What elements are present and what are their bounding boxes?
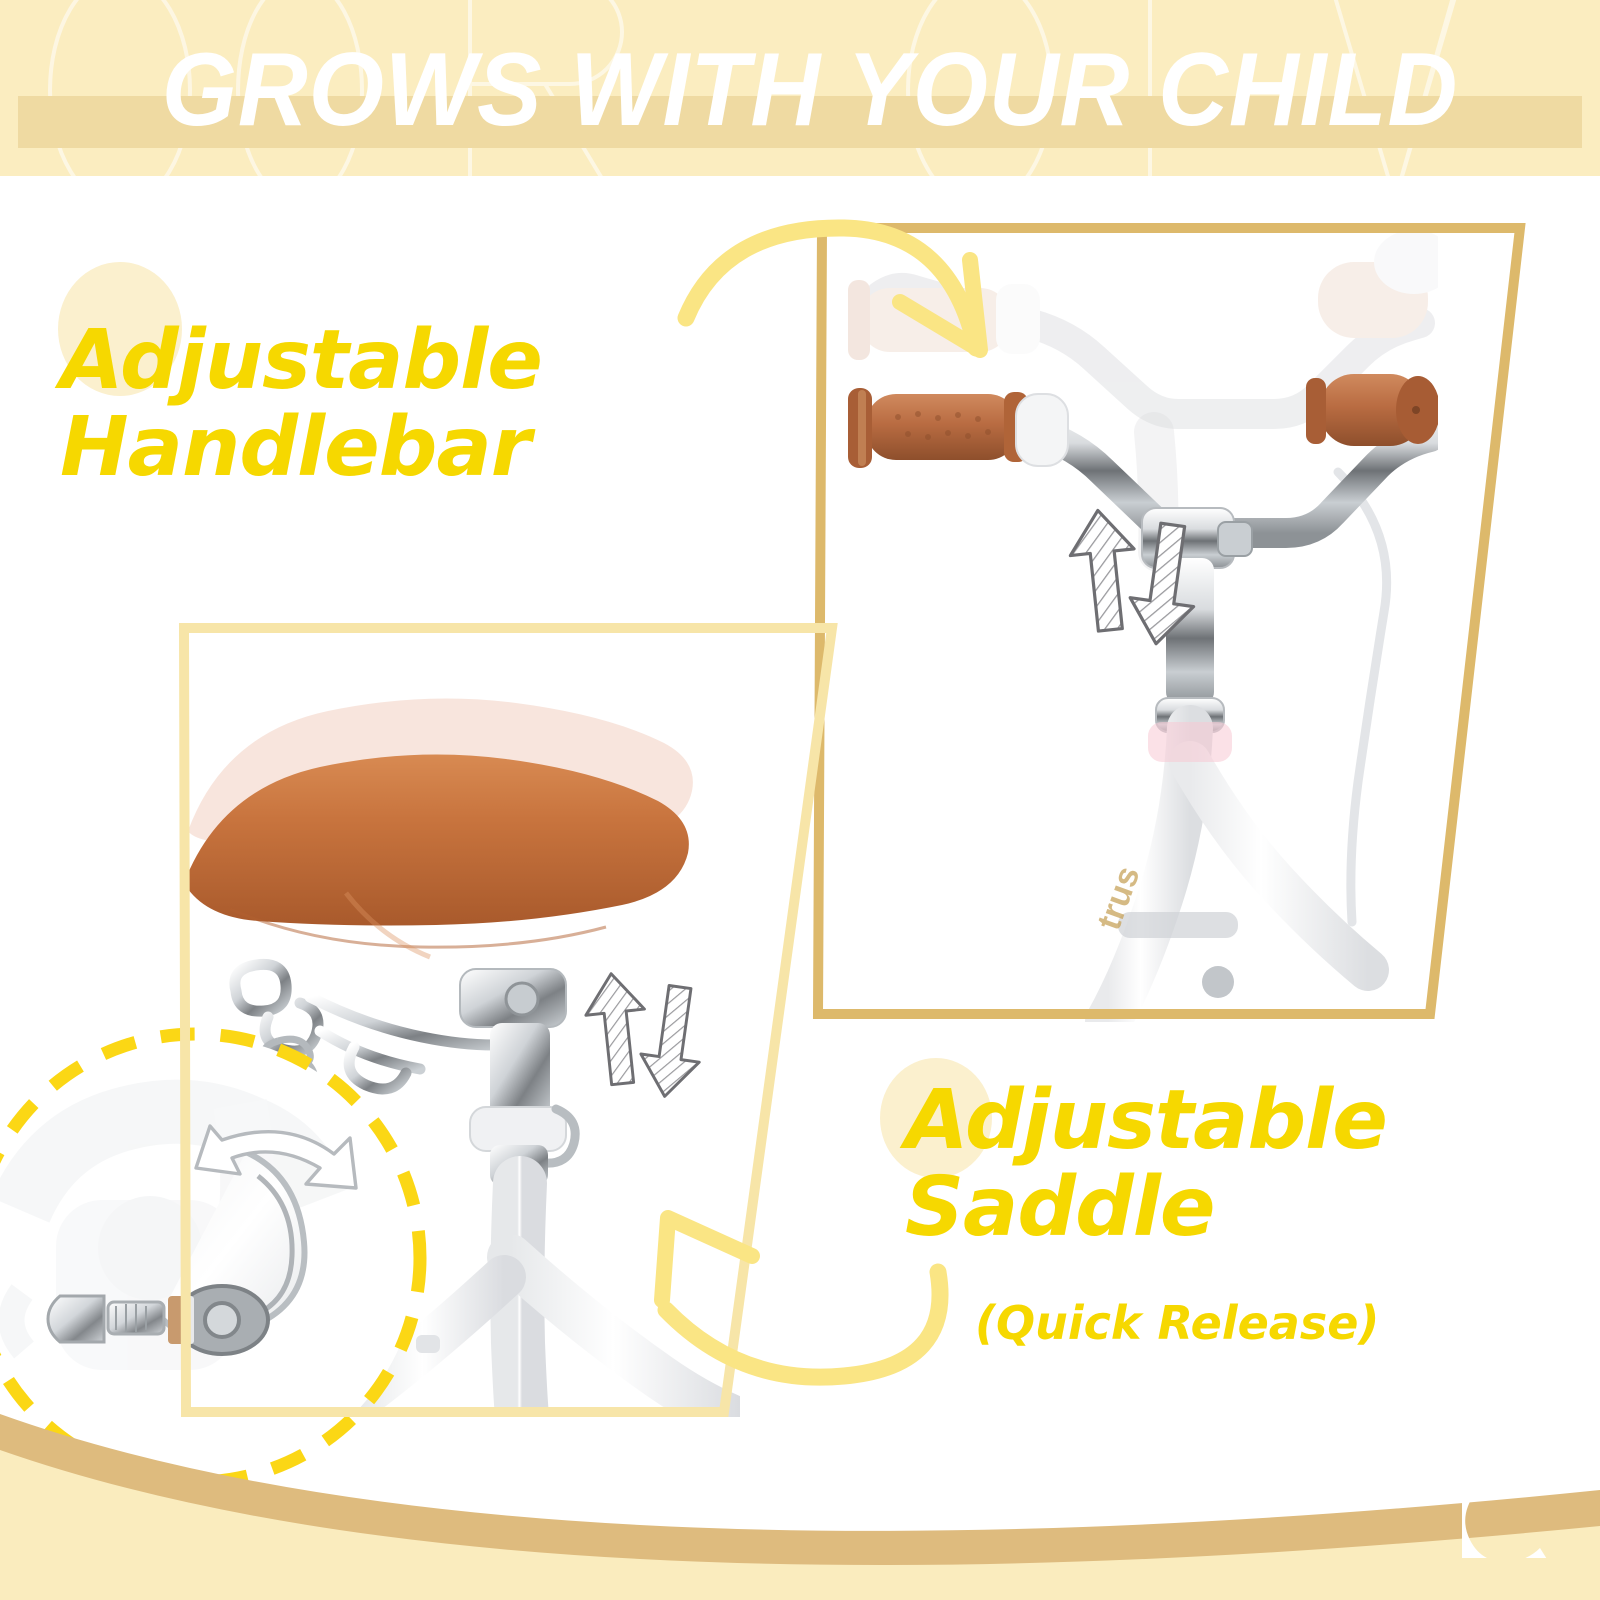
handlebar-photo-panel: trus [818, 222, 1438, 1022]
banner-title: GROWS WITH YOUR CHILD [103, 20, 1517, 160]
footer-curve [0, 1340, 1600, 1600]
brown-grip-left [848, 388, 1068, 468]
height-adjust-arrows [582, 964, 721, 1111]
infographic-canvas: GROWS WITH YOUR CHILD Adjustable Handleb… [0, 0, 1600, 1600]
citrus-fruit-c-logo [1462, 1448, 1558, 1558]
brake-cable [1338, 472, 1387, 922]
header-banner: GROWS WITH YOUR CHILD [0, 0, 1600, 176]
headline-adjustable-handlebar: Adjustable Handlebar [60, 318, 760, 492]
handlebar-illustration: trus [818, 222, 1438, 1022]
saddle-illustration [170, 617, 740, 1417]
headline-adjustable-saddle: Adjustable Saddle [905, 1078, 1545, 1252]
white-fork [1108, 722, 1368, 1022]
saddle-photo-panel [170, 617, 740, 1417]
seat-post-clamp [460, 969, 575, 1185]
